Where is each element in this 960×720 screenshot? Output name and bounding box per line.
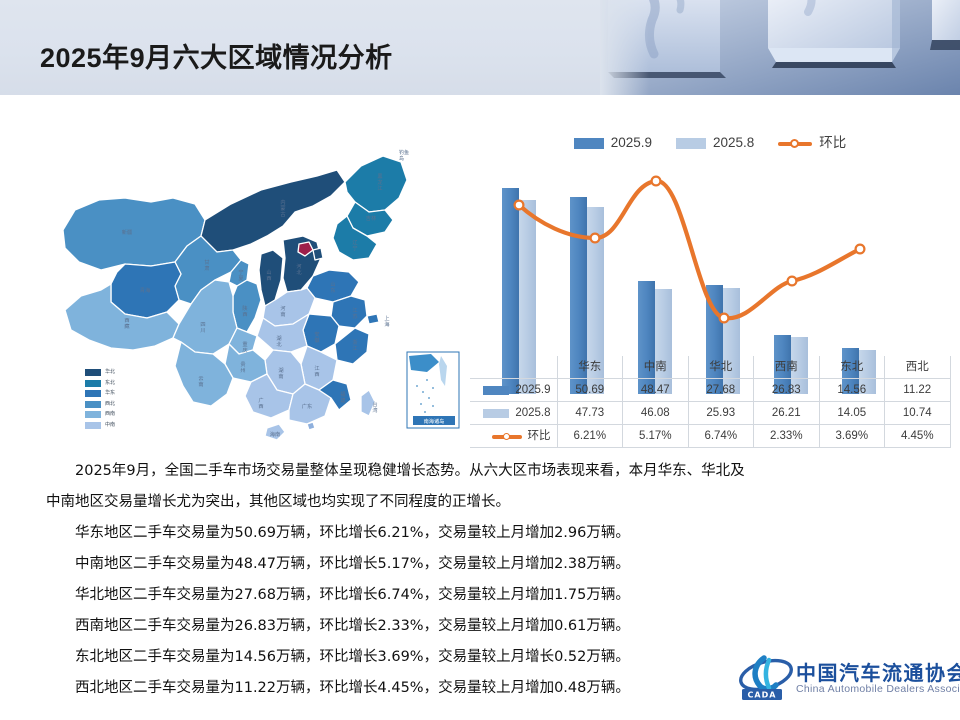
- line-swatch-icon: [778, 138, 812, 149]
- table-cell: 10.74: [885, 402, 951, 425]
- legend-swatch-icon: [85, 369, 101, 376]
- table-col-header: 华北: [688, 356, 754, 379]
- table-row-header-huanbi: 环比: [470, 425, 557, 448]
- analysis-body-text: 2025年9月，全国二手车市场交易量整体呈现稳健增长态势。从六大区市场表现来看，…: [46, 456, 746, 704]
- table-row: 环比 6.21% 5.17% 6.74% 2.33% 3.69% 4.45%: [470, 425, 950, 448]
- svg-text:徽: 徽: [314, 336, 320, 344]
- paragraph-summary: 2025年9月，全国二手车市场交易量整体呈现稳健增长态势。从六大区市场表现来看，…: [46, 456, 746, 518]
- svg-text:西: 西: [314, 371, 319, 378]
- table-cell: 5.17%: [623, 425, 689, 448]
- china-region-map: 黑龙江 吉林 辽宁 内蒙古 新疆 甘肃 青海 西藏 四川 云南 陕西 山西 河北…: [55, 140, 465, 450]
- table-row: 2025.8 47.73 46.08 25.93 26.21 14.05 10.…: [470, 402, 950, 425]
- svg-text:CADA: CADA: [748, 691, 777, 700]
- svg-text:甘: 甘: [204, 258, 209, 266]
- paragraph-zhongnan: 中南地区二手车交易量为48.47万辆，环比增长5.17%，交易量较上月增加2.3…: [46, 549, 746, 580]
- svg-text:龙: 龙: [377, 178, 382, 186]
- map-legend-label: 西北: [105, 401, 115, 408]
- chart-legend-item-huanbi: 环比: [778, 136, 846, 150]
- svg-text:河: 河: [280, 304, 285, 312]
- table-row-label: 2025.8: [515, 402, 550, 424]
- cada-logo: CADA 中国汽车流通协会 China Automobile Dealers A…: [738, 655, 943, 707]
- table-cell: 50.69: [557, 379, 623, 402]
- slide-header: 2025年9月六大区域情况分析: [0, 0, 960, 95]
- region-data-table: 华东 中南 华北 西南 东北 西北 2025.9 50.69 48.4: [470, 356, 950, 448]
- table-row-label: 2025.9: [515, 379, 550, 401]
- table-header-row: 华东 中南 华北 西南 东北 西北: [470, 356, 950, 379]
- svg-text:北: 北: [296, 268, 302, 276]
- table-col-header: 中南: [623, 356, 689, 379]
- table-cell: 26.83: [754, 379, 820, 402]
- map-legend-item-5: 中南: [85, 421, 155, 430]
- svg-text:吉林: 吉林: [366, 214, 377, 222]
- header-decoration-image: [600, 0, 960, 95]
- svg-text:北: 北: [276, 340, 282, 348]
- svg-text:庆: 庆: [242, 346, 247, 354]
- svg-text:上: 上: [384, 314, 389, 322]
- svg-text:新疆: 新疆: [122, 228, 132, 236]
- svg-text:台: 台: [372, 400, 377, 408]
- svg-text:湾: 湾: [372, 406, 377, 414]
- logo-chinese-name: 中国汽车流通协会: [796, 657, 960, 686]
- table-col-header: 东北: [819, 356, 885, 379]
- map-legend-label: 华东: [105, 390, 115, 397]
- svg-text:黑: 黑: [377, 173, 382, 180]
- svg-text:南海诸岛: 南海诸岛: [424, 417, 445, 425]
- svg-text:贵: 贵: [240, 360, 245, 368]
- svg-text:南: 南: [278, 372, 283, 380]
- svg-text:夏: 夏: [238, 275, 244, 282]
- svg-text:江: 江: [377, 185, 382, 192]
- chart-legend-item-2025-8: 2025.8: [676, 136, 754, 150]
- table-cell: 46.08: [623, 402, 689, 425]
- table-cell: 48.47: [623, 379, 689, 402]
- table-cell: 6.74%: [688, 425, 754, 448]
- svg-text:浙: 浙: [352, 338, 357, 346]
- map-legend-label: 华北: [105, 369, 115, 376]
- svg-text:广: 广: [258, 396, 263, 404]
- bar-swatch-icon: [483, 409, 509, 418]
- table-corner-cell: [470, 356, 557, 379]
- svg-text:江: 江: [314, 365, 319, 372]
- table-cell: 6.21%: [557, 425, 623, 448]
- svg-text:四: 四: [200, 321, 205, 328]
- table-cell: 11.22: [885, 379, 951, 402]
- svg-text:川: 川: [200, 328, 205, 334]
- svg-text:蒙: 蒙: [280, 204, 285, 212]
- svg-text:福: 福: [340, 390, 345, 398]
- svg-text:青海: 青海: [140, 286, 150, 294]
- paragraph-huadong: 华东地区二手车交易量为50.69万辆，环比增长6.21%，交易量较上月增加2.9…: [46, 518, 746, 549]
- map-legend-label: 东北: [105, 380, 115, 387]
- paragraph-xinan: 西南地区二手车交易量为26.83万辆，环比增长2.33%，交易量较上月增加0.6…: [46, 611, 746, 642]
- chart-legend-label: 环比: [819, 136, 846, 150]
- map-legend-label: 中南: [105, 422, 115, 429]
- legend-swatch-icon: [85, 401, 101, 408]
- svg-text:辽: 辽: [352, 238, 358, 246]
- legend-swatch-icon: [85, 422, 101, 429]
- cada-emblem-icon: CADA: [738, 655, 794, 703]
- svg-text:山: 山: [266, 268, 271, 276]
- paragraph-xibei: 西北地区二手车交易量为11.22万辆，环比增长4.45%，交易量较上月增加0.4…: [46, 673, 746, 704]
- svg-text:河: 河: [296, 262, 301, 270]
- svg-text:湖: 湖: [276, 334, 281, 342]
- chart-legend-label: 2025.9: [611, 136, 652, 150]
- table-row: 2025.9 50.69 48.47 27.68 26.83 14.56 11.…: [470, 379, 950, 402]
- map-legend-item-4: 西南: [85, 410, 155, 419]
- line-swatch-icon: [492, 432, 522, 441]
- bar-swatch-icon: [676, 138, 706, 149]
- svg-text:江: 江: [352, 345, 357, 352]
- svg-text:安: 安: [314, 330, 319, 338]
- table-cell: 25.93: [688, 402, 754, 425]
- legend-swatch-icon: [85, 390, 101, 397]
- legend-swatch-icon: [85, 380, 101, 387]
- table-cell: 4.45%: [885, 425, 951, 448]
- svg-text:西: 西: [258, 403, 263, 410]
- svg-text:藏: 藏: [124, 322, 130, 330]
- chart-legend-label: 2025.8: [713, 136, 754, 150]
- chart-legend-item-2025-9: 2025.9: [574, 136, 652, 150]
- svg-text:广东: 广东: [302, 402, 312, 410]
- slide-root: 2025年9月六大区域情况分析: [0, 0, 960, 720]
- svg-text:山: 山: [330, 280, 335, 288]
- legend-swatch-icon: [85, 411, 101, 418]
- svg-text:肃: 肃: [204, 264, 209, 272]
- svg-text:西: 西: [242, 311, 247, 318]
- table-cell: 47.73: [557, 402, 623, 425]
- table-cell: 27.68: [688, 379, 754, 402]
- svg-text:建: 建: [340, 396, 345, 404]
- south-china-sea-inset: 钓鱼 岛 南海诸岛: [399, 149, 459, 428]
- map-legend: 华北 东北 华东 西北 西南 中南: [85, 368, 155, 431]
- svg-text:宁: 宁: [352, 244, 357, 252]
- svg-text:宁: 宁: [238, 268, 243, 276]
- svg-text:钓鱼: 钓鱼: [399, 149, 409, 156]
- svg-text:湖: 湖: [278, 366, 283, 374]
- svg-text:内: 内: [280, 198, 285, 206]
- svg-text:古: 古: [280, 210, 285, 218]
- chart-legend: 2025.9 2025.8 环比: [470, 132, 950, 154]
- svg-text:江: 江: [352, 307, 357, 314]
- svg-text:苏: 苏: [352, 312, 357, 320]
- svg-text:东: 东: [330, 286, 335, 294]
- svg-text:州: 州: [240, 368, 245, 374]
- svg-text:西: 西: [124, 317, 129, 324]
- table-cell: 3.69%: [819, 425, 885, 448]
- table-row-header-2025-9: 2025.9: [470, 379, 557, 402]
- map-legend-item-1: 东北: [85, 379, 155, 388]
- map-legend-item-2: 华东: [85, 389, 155, 398]
- page-title: 2025年9月六大区域情况分析: [40, 36, 393, 75]
- table-col-header: 西南: [754, 356, 820, 379]
- svg-text:西: 西: [266, 275, 271, 282]
- svg-text:陕: 陕: [242, 304, 247, 312]
- map-legend-item-3: 西北: [85, 400, 155, 409]
- paragraph-dongbei: 东北地区二手车交易量为14.56万辆，环比增长3.69%，交易量较上月增长0.5…: [46, 642, 746, 673]
- table-row-header-2025-8: 2025.8: [470, 402, 557, 425]
- bar-swatch-icon: [574, 138, 604, 149]
- svg-text:海南: 海南: [270, 430, 280, 438]
- svg-text:南: 南: [198, 380, 203, 388]
- map-legend-label: 西南: [105, 411, 115, 418]
- table-row-label: 环比: [528, 425, 551, 447]
- svg-text:云: 云: [198, 375, 203, 382]
- table-col-header: 西北: [885, 356, 951, 379]
- paragraph-huabei: 华北地区二手车交易量为27.68万辆，环比增长6.74%，交易量较上月增加1.7…: [46, 580, 746, 611]
- bar-swatch-icon: [483, 386, 509, 395]
- logo-english-name: China Automobile Dealers Association: [796, 683, 960, 695]
- table-col-header: 华东: [557, 356, 623, 379]
- table-cell: 2.33%: [754, 425, 820, 448]
- svg-text:重: 重: [242, 340, 247, 348]
- table-cell: 26.21: [754, 402, 820, 425]
- svg-text:岛: 岛: [399, 155, 404, 162]
- svg-text:南: 南: [280, 310, 285, 318]
- table-cell: 14.05: [819, 402, 885, 425]
- svg-text:海: 海: [384, 320, 389, 328]
- table-cell: 14.56: [819, 379, 885, 402]
- map-legend-item-0: 华北: [85, 368, 155, 377]
